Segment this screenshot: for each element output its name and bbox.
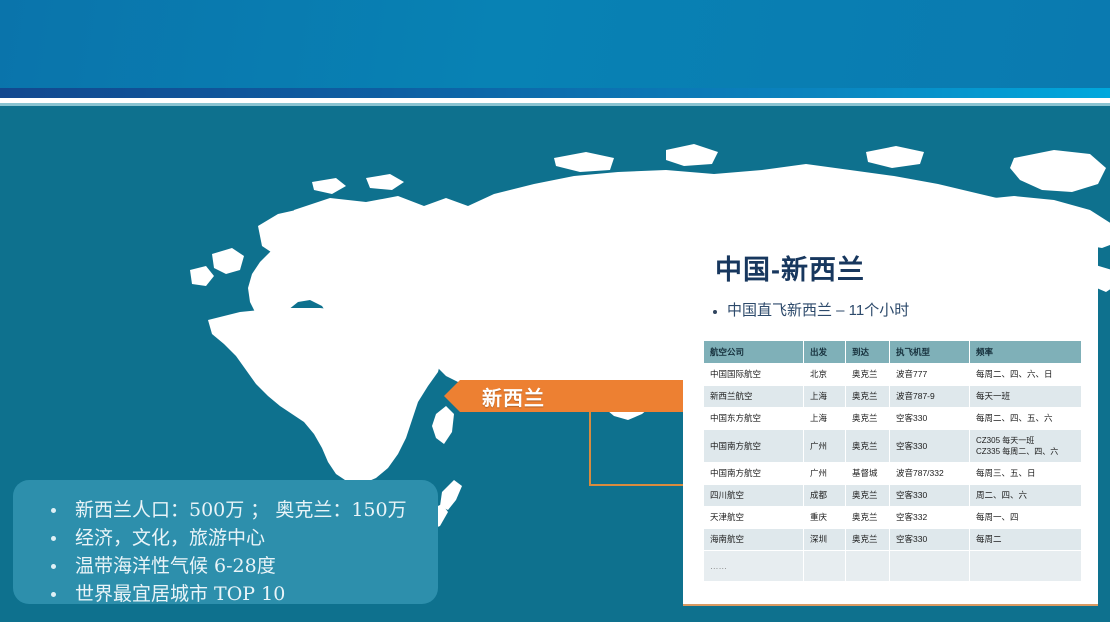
cell-aircraft: 空客332 xyxy=(890,507,970,529)
cell-arrival: 奥克兰 xyxy=(846,430,890,463)
cell-airline: 四川航空 xyxy=(704,485,804,507)
cell-frequency: CZ305 每天一班 CZ335 每周二、四、六 xyxy=(970,430,1082,463)
cell-aircraft xyxy=(890,551,970,582)
cell-aircraft: 波音787-9 xyxy=(890,386,970,408)
cell-airline: 新西兰航空 xyxy=(704,386,804,408)
bullet-dot-icon xyxy=(713,310,717,314)
table-row: 中国国际航空 北京 奥克兰 波音777 每周二、四、六、日 xyxy=(704,364,1082,386)
header-accent-stripe xyxy=(0,88,1110,98)
cell-departure xyxy=(804,551,846,582)
cell-airline: 中国东方航空 xyxy=(704,408,804,430)
table-header-row: 航空公司 出发 到达 执飞机型 频率 xyxy=(704,341,1082,364)
new-zealand-label: 新西兰 xyxy=(482,382,545,411)
new-zealand-facts-box: 新西兰人口：500万 ； 奥克兰：150万 经济，文化，旅游中心 温带海洋性气候… xyxy=(13,480,438,604)
column-header-airline: 航空公司 xyxy=(704,341,804,364)
table-row: 新西兰航空 上海 奥克兰 波音787-9 每天一班 xyxy=(704,386,1082,408)
cell-departure: 广州 xyxy=(804,463,846,485)
cell-frequency: 每周二、四、五、六 xyxy=(970,408,1082,430)
cell-aircraft: 波音787/332 xyxy=(890,463,970,485)
cell-aircraft: 空客330 xyxy=(890,485,970,507)
callout-connector-vertical xyxy=(589,412,591,486)
table-row: 中国东方航空 上海 奥克兰 空客330 每周二、四、五、六 xyxy=(704,408,1082,430)
facts-list: 新西兰人口：500万 ； 奥克兰：150万 经济，文化，旅游中心 温带海洋性气候… xyxy=(13,490,438,608)
cell-frequency: 周二、四、六 xyxy=(970,485,1082,507)
cell-airline: 海南航空 xyxy=(704,529,804,551)
table-row: …… xyxy=(704,551,1082,582)
cell-arrival: 奥克兰 xyxy=(846,507,890,529)
cell-frequency xyxy=(970,551,1082,582)
table-row: 海南航空 深圳 奥克兰 空客330 每周二 xyxy=(704,529,1082,551)
panel-subtitle-row: 中国直飞新西兰 – 11个小时 xyxy=(713,301,1098,321)
cell-airline: 天津航空 xyxy=(704,507,804,529)
cell-frequency: 每周一、四 xyxy=(970,507,1082,529)
cell-aircraft: 空客330 xyxy=(890,408,970,430)
column-header-arrival: 到达 xyxy=(846,341,890,364)
table-row: 天津航空 重庆 奥克兰 空客332 每周一、四 xyxy=(704,507,1082,529)
column-header-frequency: 频率 xyxy=(970,341,1082,364)
cell-frequency: 每天一班 xyxy=(970,386,1082,408)
cell-airline: 中国国际航空 xyxy=(704,364,804,386)
cell-departure: 北京 xyxy=(804,364,846,386)
cell-arrival: 基督城 xyxy=(846,463,890,485)
cell-arrival: 奥克兰 xyxy=(846,386,890,408)
cell-departure: 深圳 xyxy=(804,529,846,551)
cell-aircraft: 空客330 xyxy=(890,529,970,551)
cell-arrival xyxy=(846,551,890,582)
cell-arrival: 奥克兰 xyxy=(846,485,890,507)
panel-subtitle: 中国直飞新西兰 – 11个小时 xyxy=(727,301,909,321)
cell-frequency: 每周三、五、日 xyxy=(970,463,1082,485)
column-header-departure: 出发 xyxy=(804,341,846,364)
table-row: 四川航空 成都 奥克兰 空客330 周二、四、六 xyxy=(704,485,1082,507)
list-item: 世界最宜居城市 TOP 10 xyxy=(43,580,438,608)
cell-aircraft: 波音777 xyxy=(890,364,970,386)
cell-airline: 中国南方航空 xyxy=(704,430,804,463)
cell-arrival: 奥克兰 xyxy=(846,408,890,430)
page-title: 中国-新西兰 xyxy=(715,248,1098,287)
list-item: 经济，文化，旅游中心 xyxy=(43,524,438,552)
list-item: 新西兰人口：500万 ； 奥克兰：150万 xyxy=(43,496,438,524)
cell-frequency: 每周二、四、六、日 xyxy=(970,364,1082,386)
panel-bottom-accent-line xyxy=(683,604,1098,606)
cell-departure: 上海 xyxy=(804,408,846,430)
header-top-band xyxy=(0,0,1110,88)
cell-arrival: 奥克兰 xyxy=(846,364,890,386)
china-newzealand-info-panel: 中国-新西兰 中国直飞新西兰 – 11个小时 航空公司 出发 到达 执飞机型 频… xyxy=(683,230,1098,606)
cell-airline: 中国南方航空 xyxy=(704,463,804,485)
cell-frequency: 每周二 xyxy=(970,529,1082,551)
cell-departure: 上海 xyxy=(804,386,846,408)
table-row: 中国南方航空 广州 基督城 波音787/332 每周三、五、日 xyxy=(704,463,1082,485)
list-item: 温带海洋性气候 6-28度 xyxy=(43,552,438,580)
cell-departure: 成都 xyxy=(804,485,846,507)
cell-airline: …… xyxy=(704,551,804,582)
column-header-aircraft: 执飞机型 xyxy=(890,341,970,364)
cell-aircraft: 空客330 xyxy=(890,430,970,463)
cell-departure: 重庆 xyxy=(804,507,846,529)
cell-departure: 广州 xyxy=(804,430,846,463)
table-row: 中国南方航空 广州 奥克兰 空客330 CZ305 每天一班 CZ335 每周二… xyxy=(704,430,1082,463)
flight-routes-table: 航空公司 出发 到达 执飞机型 频率 中国国际航空 北京 奥克兰 波音777 每… xyxy=(703,340,1082,582)
cell-arrival: 奥克兰 xyxy=(846,529,890,551)
